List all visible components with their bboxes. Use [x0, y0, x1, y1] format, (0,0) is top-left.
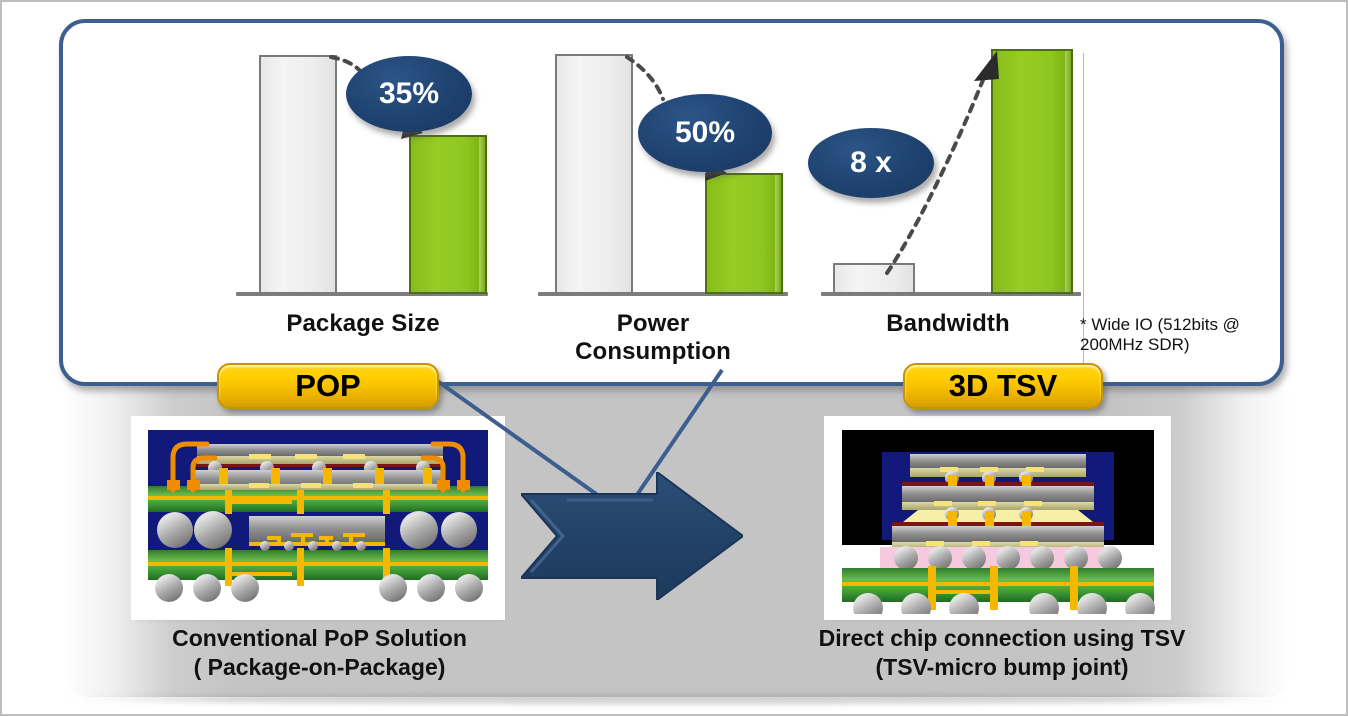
- tsv-cross-section-svg: [830, 422, 1165, 614]
- bar-group-package-size: 35% Package Size: [63, 23, 513, 390]
- tsv-caption-line2: (TSV-micro bump joint): [792, 653, 1212, 682]
- bar-tsv-package-size: [409, 135, 487, 294]
- category-label-bandwidth-line1: Bandwidth: [778, 310, 1118, 338]
- pill-pop[interactable]: POP: [217, 363, 439, 409]
- badge-package-size-label: 35%: [379, 77, 439, 111]
- chart-footnote-line2: 200MHz SDR): [1080, 335, 1268, 355]
- bar-group-power-consumption: 50% Power Consumption: [483, 23, 783, 390]
- tsv-cross-section-image: [829, 421, 1166, 615]
- pop-caption-line1: Conventional PoP Solution: [112, 624, 527, 653]
- chart-footnote-line1: * Wide IO (512bits @: [1080, 315, 1268, 335]
- transition-arrow-icon: [521, 472, 743, 600]
- pop-caption: Conventional PoP Solution ( Package-on-P…: [112, 624, 527, 682]
- chart-plot-area: 35% Package Size 50%: [63, 23, 1280, 382]
- badge-bandwidth-label: 8 x: [850, 146, 892, 180]
- tsv-caption-line1: Direct chip connection using TSV: [792, 624, 1212, 653]
- pill-pop-label: POP: [295, 368, 360, 404]
- badge-power-consumption-label: 50%: [675, 116, 735, 150]
- pop-caption-line2: ( Package-on-Package): [112, 653, 527, 682]
- badge-bandwidth: 8 x: [808, 128, 934, 198]
- benchmark-chart-card: 35% Package Size 50%: [59, 19, 1284, 386]
- pill-3d-tsv[interactable]: 3D TSV: [903, 363, 1103, 409]
- pill-3d-tsv-label: 3D TSV: [949, 368, 1058, 404]
- slide-root: 35% Package Size 50%: [0, 0, 1348, 716]
- bar-group-bandwidth: 8 x Bandwidth: [763, 23, 1093, 390]
- tsv-caption: Direct chip connection using TSV (TSV-mi…: [792, 624, 1212, 682]
- chart-footnote: * Wide IO (512bits @ 200MHz SDR): [1080, 315, 1268, 354]
- badge-package-size: 35%: [346, 56, 472, 132]
- badge-power-consumption: 50%: [638, 94, 772, 172]
- category-label-bandwidth: Bandwidth: [778, 310, 1118, 338]
